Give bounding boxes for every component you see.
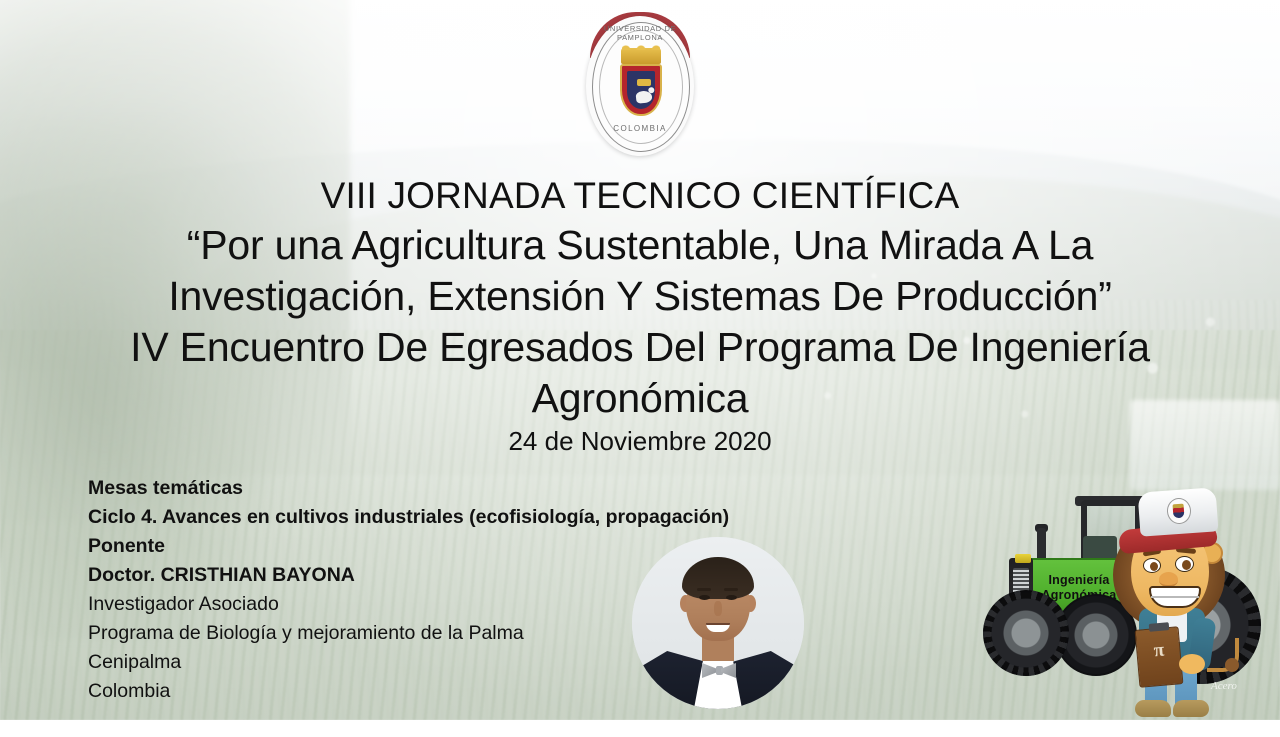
portrait-bowtie-knot xyxy=(716,666,723,675)
portrait-eye-left xyxy=(699,595,710,600)
tractor-exhaust-pipe xyxy=(1037,528,1046,562)
portrait-brow-right xyxy=(724,588,738,591)
title-line-4: IV Encuentro De Egresados Del Programa D… xyxy=(60,322,1220,373)
mascot-shoe-right xyxy=(1173,700,1209,717)
tractor-headlight xyxy=(1015,554,1031,563)
tractor-label-line-1: Ingeniería xyxy=(1048,573,1109,588)
mascot-pi-symbol: π xyxy=(1142,639,1176,664)
university-crest-logo: UNIVERSIDAD DE PAMPLONA COLOMBIA xyxy=(568,6,712,164)
portrait-nose xyxy=(714,601,722,616)
speaker-portrait xyxy=(632,537,804,709)
info-mesas-tematicas: Mesas temáticas xyxy=(88,474,808,503)
mascot-hand xyxy=(1179,654,1205,674)
crest-shield-inner xyxy=(627,71,655,109)
title-line-2: “Por una Agricultura Sustentable, Una Mi… xyxy=(60,220,1220,271)
event-date: 24 de Noviembre 2020 xyxy=(60,425,1220,457)
crest-shield xyxy=(620,64,662,116)
crest-text-bottom: COLOMBIA xyxy=(592,124,688,133)
title-line-5: Agronómica xyxy=(60,373,1220,424)
portrait-eye-right xyxy=(726,595,737,600)
artist-signature: Acero xyxy=(1211,680,1263,702)
mascot-shoe-left xyxy=(1135,700,1171,717)
crest-mini-crown-icon xyxy=(637,79,651,86)
title-line-3: Investigación, Extensión Y Sistemas De P… xyxy=(60,271,1220,322)
portrait-brow-left xyxy=(697,588,711,591)
event-slide: UNIVERSIDAD DE PAMPLONA COLOMBIA VIII JO… xyxy=(0,0,1280,737)
mascot-eye-left xyxy=(1143,558,1161,573)
mascot-nose xyxy=(1159,572,1178,587)
bottom-white-strip xyxy=(0,720,1280,737)
tractor-front-tread xyxy=(983,590,1069,676)
mascot-tail-tip xyxy=(1225,658,1239,672)
title-line-1: VIII JORNADA TECNICO CIENTÍFICA xyxy=(60,172,1220,220)
title-block: VIII JORNADA TECNICO CIENTÍFICA “Por una… xyxy=(60,172,1220,457)
crest-lion-icon xyxy=(635,90,652,104)
info-ciclo: Ciclo 4. Avances en cultivos industriale… xyxy=(88,503,808,532)
mascot-eye-right xyxy=(1175,556,1194,572)
crest-crown-icon xyxy=(621,48,661,64)
mascot-illustration: Ingeniería Agronómica π Acero xyxy=(963,462,1280,720)
portrait-bowtie xyxy=(702,663,736,678)
